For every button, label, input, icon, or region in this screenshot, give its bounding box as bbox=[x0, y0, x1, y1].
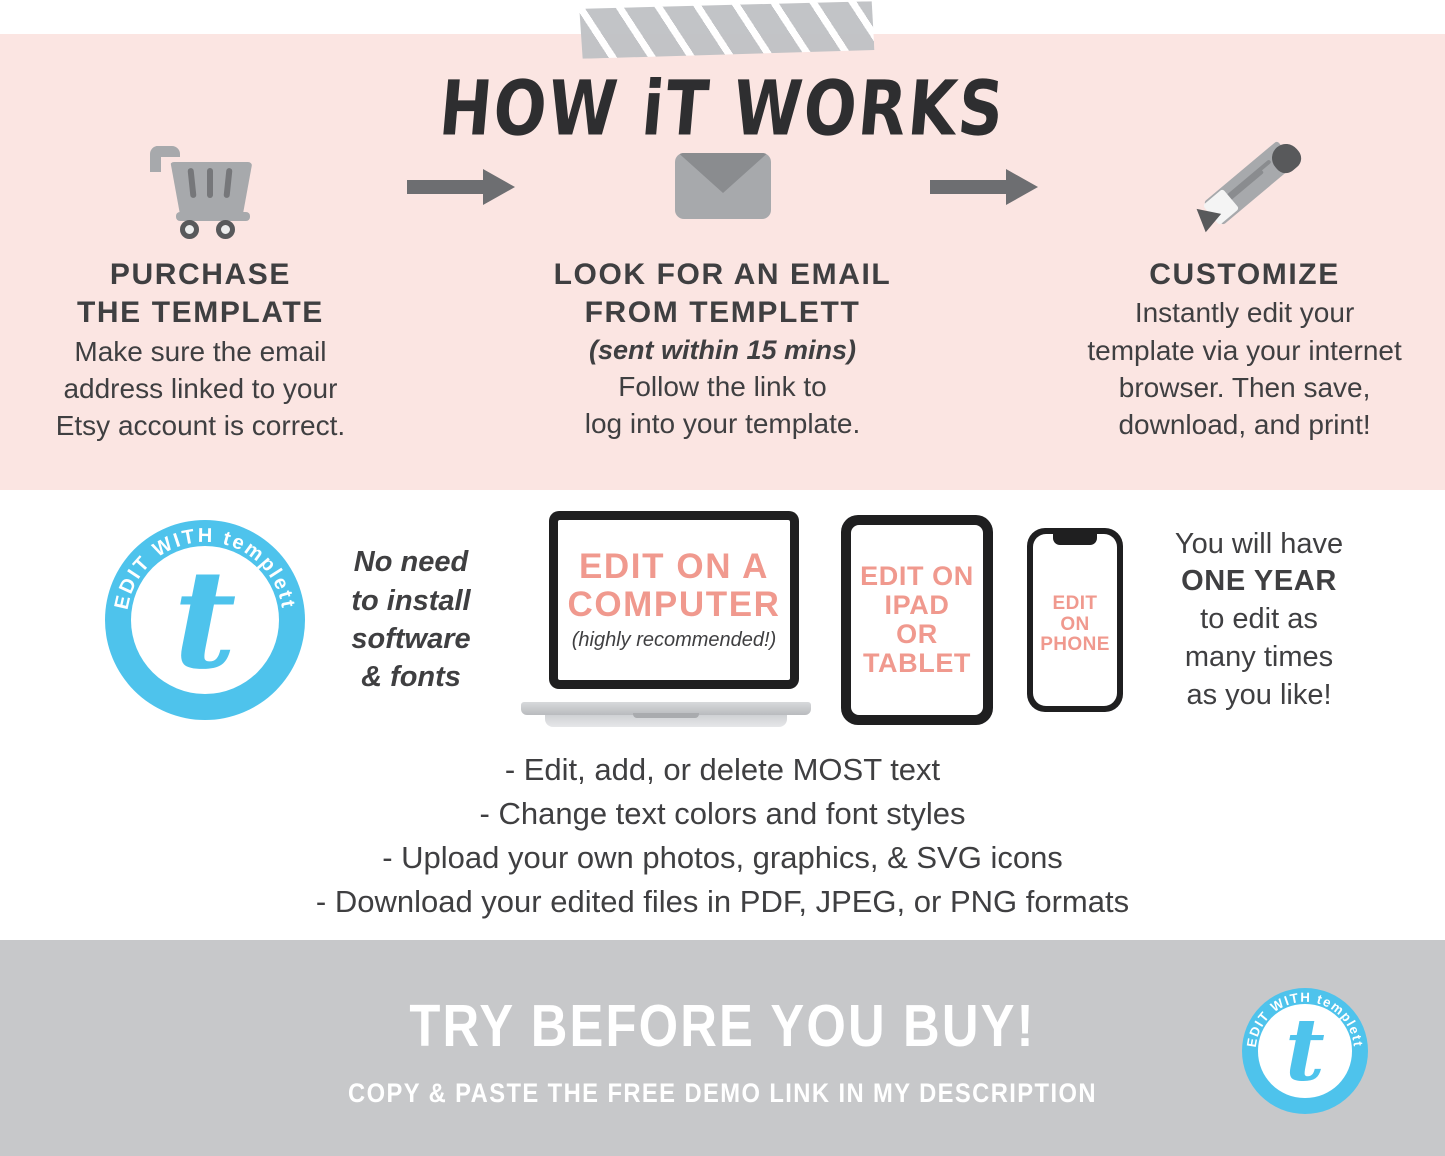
ipad-text-line: EDIT ON bbox=[860, 562, 974, 591]
one-year-line: many times bbox=[1149, 639, 1369, 677]
step-body-line: Follow the link to bbox=[522, 368, 923, 405]
one-year-line: to edit as bbox=[1149, 601, 1369, 639]
templett-badge-footer: EDIT WITH templett EDITABLE TEMPLATE t bbox=[1242, 988, 1368, 1114]
list-item: - Download your edited files in PDF, JPE… bbox=[0, 880, 1445, 924]
step-body-line: log into your template. bbox=[522, 405, 923, 442]
badge-letter-t: t bbox=[105, 520, 305, 720]
step-heading: PURCHASE THE TEMPLATE bbox=[0, 256, 401, 333]
one-year-line: You will have bbox=[1149, 526, 1369, 564]
step-heading-line: THE TEMPLATE bbox=[0, 294, 401, 332]
one-year-line: as you like! bbox=[1149, 677, 1369, 715]
badge-letter-t: t bbox=[1242, 988, 1368, 1114]
footer-banner: TRY BEFORE YOU BUY! COPY & PASTE THE FRE… bbox=[0, 940, 1445, 1156]
step-body-line: Make sure the email bbox=[0, 333, 401, 370]
step-heading-line: FROM TEMPLETT bbox=[522, 294, 923, 332]
phone-mockup: EDIT ON PHONE bbox=[1027, 528, 1123, 712]
envelope-icon bbox=[522, 128, 923, 244]
footer-subtitle: COPY & PASTE THE FREE DEMO LINK IN MY DE… bbox=[87, 1078, 1359, 1109]
step-body-line: Instantly edit your bbox=[1044, 294, 1445, 331]
phone-text-line: ON bbox=[1040, 615, 1110, 636]
devices-row: EDIT WITH templett EDITABLE TEMPLATE t N… bbox=[0, 500, 1445, 740]
phone-text-line: EDIT bbox=[1040, 594, 1110, 615]
no-install-line: & fonts bbox=[331, 658, 491, 696]
step-body: Instantly edit your template via your in… bbox=[1044, 294, 1445, 443]
step-italic-note: (sent within 15 mins) bbox=[522, 333, 923, 368]
step-body-line: address linked to your bbox=[0, 370, 401, 407]
laptop-notch bbox=[633, 713, 699, 718]
ipad-text-line: TABLET bbox=[860, 649, 974, 678]
step-heading: CUSTOMIZE bbox=[1044, 256, 1445, 294]
laptop-text-line: EDIT ON A bbox=[567, 548, 780, 585]
list-item: - Edit, add, or delete MOST text bbox=[0, 748, 1445, 792]
ipad-text-line: IPAD bbox=[860, 591, 974, 620]
phone-screen-text: EDIT ON PHONE bbox=[1040, 594, 1110, 657]
step-body: Make sure the email address linked to yo… bbox=[0, 333, 401, 445]
phone-text-line: PHONE bbox=[1040, 635, 1110, 656]
step-purchase: PURCHASE THE TEMPLATE Make sure the emai… bbox=[0, 128, 401, 444]
arrow-right-icon bbox=[401, 128, 522, 244]
no-install-line: to install bbox=[331, 582, 491, 620]
phone-screen: EDIT ON PHONE bbox=[1033, 534, 1117, 706]
steps-row: PURCHASE THE TEMPLATE Make sure the emai… bbox=[0, 128, 1445, 468]
no-install-line: No need bbox=[331, 543, 491, 581]
footer-title: TRY BEFORE YOU BUY! bbox=[101, 992, 1344, 1060]
one-year-line-strong: ONE YEAR bbox=[1149, 563, 1369, 601]
step-heading-line: LOOK FOR AN EMAIL bbox=[522, 256, 923, 294]
no-install-note: No need to install software & fonts bbox=[331, 543, 491, 696]
shopping-cart-icon bbox=[0, 128, 401, 244]
laptop-screen-text: EDIT ON A COMPUTER bbox=[567, 548, 780, 622]
laptop-mockup: EDIT ON A COMPUTER (highly recommended!) bbox=[521, 511, 811, 729]
ipad-screen-text: EDIT ON IPAD OR TABLET bbox=[860, 562, 974, 679]
arrow-right-icon bbox=[923, 128, 1044, 244]
step-body-line: download, and print! bbox=[1044, 406, 1445, 443]
step-body: Follow the link to log into your templat… bbox=[522, 368, 923, 442]
ipad-text-line: OR bbox=[860, 620, 974, 649]
washi-tape-icon bbox=[578, 1, 875, 59]
how-it-works-infographic: HOW iT WORKS PURCHASE THE TEMPLATE Make … bbox=[0, 0, 1445, 1156]
laptop-screen-note: (highly recommended!) bbox=[572, 629, 777, 652]
no-install-line: software bbox=[331, 620, 491, 658]
list-item: - Change text colors and font styles bbox=[0, 792, 1445, 836]
step-heading-line: PURCHASE bbox=[0, 256, 401, 294]
laptop-lid: EDIT ON A COMPUTER (highly recommended!) bbox=[549, 511, 799, 689]
step-body-line: browser. Then save, bbox=[1044, 369, 1445, 406]
ipad-screen: EDIT ON IPAD OR TABLET bbox=[851, 525, 983, 715]
step-customize: CUSTOMIZE Instantly edit your template v… bbox=[1044, 128, 1445, 443]
one-year-note: You will have ONE YEAR to edit as many t… bbox=[1149, 526, 1369, 714]
phone-notch bbox=[1053, 534, 1097, 545]
step-body-line: template via your internet bbox=[1044, 332, 1445, 369]
laptop-text-line: COMPUTER bbox=[567, 586, 780, 623]
templett-badge: EDIT WITH templett EDITABLE TEMPLATE t bbox=[105, 520, 305, 720]
step-look-for-email: LOOK FOR AN EMAIL FROM TEMPLETT (sent wi… bbox=[522, 128, 923, 442]
laptop-screen: EDIT ON A COMPUTER (highly recommended!) bbox=[558, 520, 790, 680]
ipad-mockup: EDIT ON IPAD OR TABLET bbox=[841, 515, 993, 725]
step-heading-line: CUSTOMIZE bbox=[1044, 256, 1445, 294]
list-item: - Upload your own photos, graphics, & SV… bbox=[0, 836, 1445, 880]
step-body-line: Etsy account is correct. bbox=[0, 407, 401, 444]
feature-list: - Edit, add, or delete MOST text - Chang… bbox=[0, 748, 1445, 924]
step-heading: LOOK FOR AN EMAIL FROM TEMPLETT bbox=[522, 256, 923, 333]
pencil-icon bbox=[1044, 128, 1445, 244]
